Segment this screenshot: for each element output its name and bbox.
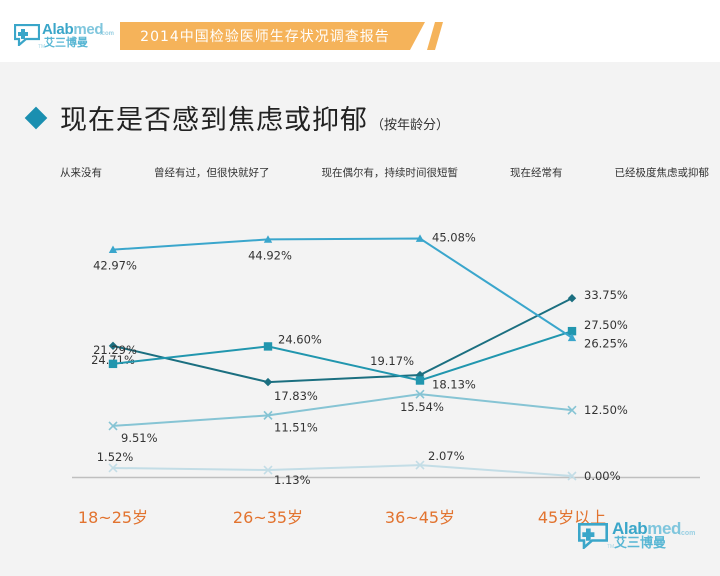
legend-marker-x-icon [585,171,611,173]
legend-marker-x-icon [480,171,506,173]
data-label: 24.60% [278,332,322,346]
series-line [113,331,572,380]
legend-item-4[interactable]: 现在经常有 [480,165,563,180]
series-point-marker [264,378,272,386]
chart-area: 24.71%17.83%19.17%33.75%21.29%24.60%18.1… [0,188,720,498]
brand-chinese-name: 艾三博曼 [44,37,88,49]
alabmed-logo-icon-footer [578,523,608,549]
chart-legend: 从来没有曾经有过，但很快就好了现在偶尔有，持续时间很短暂现在经常有已经极度焦虑或… [30,163,690,181]
data-label: 45.08% [432,231,476,245]
report-banner-ribbon-tail [427,22,443,50]
chart-series-4: 9.51%11.51%15.54%12.50% [109,390,628,445]
page-title-sub: （按年龄分） [371,114,449,133]
data-label: 19.17% [370,354,414,368]
slide-page: Alabmed .com 艾三博曼 TM 2014中国检验医师生存状况调查报告 … [0,0,720,576]
data-label: 17.83% [274,389,318,403]
series-line [113,239,572,338]
chart-series-3: 42.97%44.92%45.08%26.25% [93,231,628,351]
series-point-marker [109,360,117,368]
legend-item-5[interactable]: 已经极度焦虑或抑郁 [585,165,710,180]
data-label: 18.13% [432,378,476,392]
data-label: 27.50% [584,318,628,332]
legend-item-3[interactable]: 现在偶尔有，持续时间很短暂 [292,165,459,180]
chart-series-5: 1.52%1.13%2.07%0.00% [97,449,621,487]
brand-tm-mark: TM [38,44,45,50]
series-line [113,298,572,382]
legend-label-2: 曾经有过，但很快就好了 [154,165,270,180]
brand-logo-bottom[interactable]: Alabmed .com 艾三博曼 TM [578,519,706,555]
line-chart: 24.71%17.83%19.17%33.75%21.29%24.60%18.1… [0,188,720,498]
legend-label-1: 从来没有 [60,165,102,180]
legend-marker-square-icon [124,171,150,173]
series-line [113,394,572,426]
brand-logo-top[interactable]: Alabmed .com 艾三博曼 TM [14,22,118,52]
x-axis-tick-3: 36~45岁 [372,504,468,528]
report-banner: 2014中国检验医师生存状况调查报告 [120,22,425,50]
data-label: 0.00% [584,469,621,483]
series-point-marker [264,342,272,350]
data-label: 42.97% [93,259,137,273]
page-title: 现在是否感到焦虑或抑郁 （按年龄分） [28,98,449,137]
data-label: 21.29% [93,343,137,357]
data-label: 2.07% [428,449,465,463]
legend-label-5: 已经极度焦虑或抑郁 [615,165,710,180]
legend-item-1[interactable]: 从来没有 [30,165,102,180]
data-label: 1.52% [97,450,134,464]
x-axis-tick-1: 18~25岁 [65,504,161,528]
diamond-bullet-icon [25,107,48,130]
legend-marker-diamond-icon [30,171,56,173]
brand-tm-mark-footer: TM [607,544,614,550]
legend-marker-triangle-icon [292,171,318,173]
chart-series-2: 21.29%24.60%18.13%27.50% [93,318,628,391]
brand-dotcom-footer: .com [679,530,695,537]
data-label: 1.13% [274,473,311,487]
data-label: 11.51% [274,420,318,434]
legend-label-4: 现在经常有 [510,165,563,180]
data-label: 33.75% [584,288,628,302]
data-label: 26.25% [584,337,628,351]
data-label: 12.50% [584,403,628,417]
alabmed-logo-icon [14,24,40,46]
series-line [113,465,572,476]
legend-label-3: 现在偶尔有，持续时间很短暂 [322,165,459,180]
page-title-main: 现在是否感到焦虑或抑郁 [60,98,368,137]
chart-series-1: 24.71%17.83%19.17%33.75% [91,288,628,403]
data-label: 15.54% [400,400,444,414]
data-label: 44.92% [248,248,292,262]
legend-item-2[interactable]: 曾经有过，但很快就好了 [124,165,270,180]
brand-chinese-name-footer: 艾三博曼 [614,536,666,550]
x-axis-tick-2: 26~35岁 [220,504,316,528]
brand-word-a: Alab [42,21,73,38]
report-banner-text: 2014中国检验医师生存状况调查报告 [120,22,410,50]
brand-dotcom: .com [100,31,114,37]
brand-wordmark: Alabmed [42,22,103,37]
series-point-marker [568,294,576,302]
series-point-marker [416,376,424,384]
data-label: 9.51% [121,431,158,445]
slide-header: Alabmed .com 艾三博曼 TM 2014中国检验医师生存状况调查报告 [0,0,720,62]
brand-word-b: med [73,21,103,38]
